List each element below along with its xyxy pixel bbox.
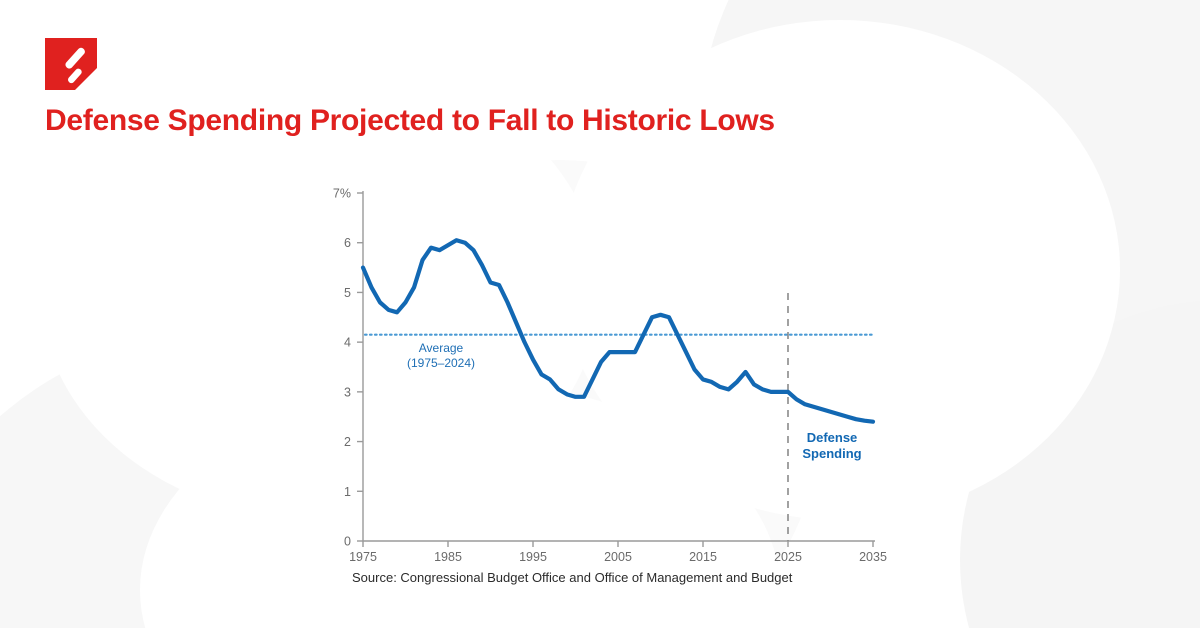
x-axis: 1975198519952005201520252035 (349, 541, 887, 564)
x-tick-label: 2025 (774, 550, 802, 564)
x-tick-label: 1975 (349, 550, 377, 564)
x-tick-label: 2005 (604, 550, 632, 564)
average-label-line2: (1975–2024) (407, 356, 475, 370)
chart-container: 01234567% 1975198519952005201520252035 A… (0, 0, 1200, 628)
x-tick-label: 2035 (859, 550, 887, 564)
series-label-line1: Defense (807, 430, 858, 445)
source-note: Source: Congressional Budget Office and … (352, 570, 792, 585)
chart-annotations: Average(1975–2024)DefenseSpending (407, 341, 862, 461)
series-label-line2: Spending (802, 446, 861, 461)
x-tick-label: 1995 (519, 550, 547, 564)
y-tick-label: 0 (344, 535, 351, 549)
y-tick-label: 4 (344, 336, 351, 350)
y-tick-label: 5 (344, 286, 351, 300)
y-tick-label: 1 (344, 485, 351, 499)
infographic-canvas: Defense Spending Projected to Fall to Hi… (0, 0, 1200, 628)
y-axis: 01234567% (333, 187, 363, 549)
x-tick-label: 2015 (689, 550, 717, 564)
defense-spending-series (363, 240, 873, 421)
y-tick-label: 2 (344, 435, 351, 449)
y-tick-label: 3 (344, 385, 351, 399)
defense-spending-line-chart: 01234567% 1975198519952005201520252035 A… (0, 0, 1200, 628)
y-tick-label: 7% (333, 187, 351, 201)
average-label-line1: Average (419, 341, 464, 355)
x-tick-label: 1985 (434, 550, 462, 564)
series-line (363, 240, 873, 421)
y-tick-label: 6 (344, 236, 351, 250)
